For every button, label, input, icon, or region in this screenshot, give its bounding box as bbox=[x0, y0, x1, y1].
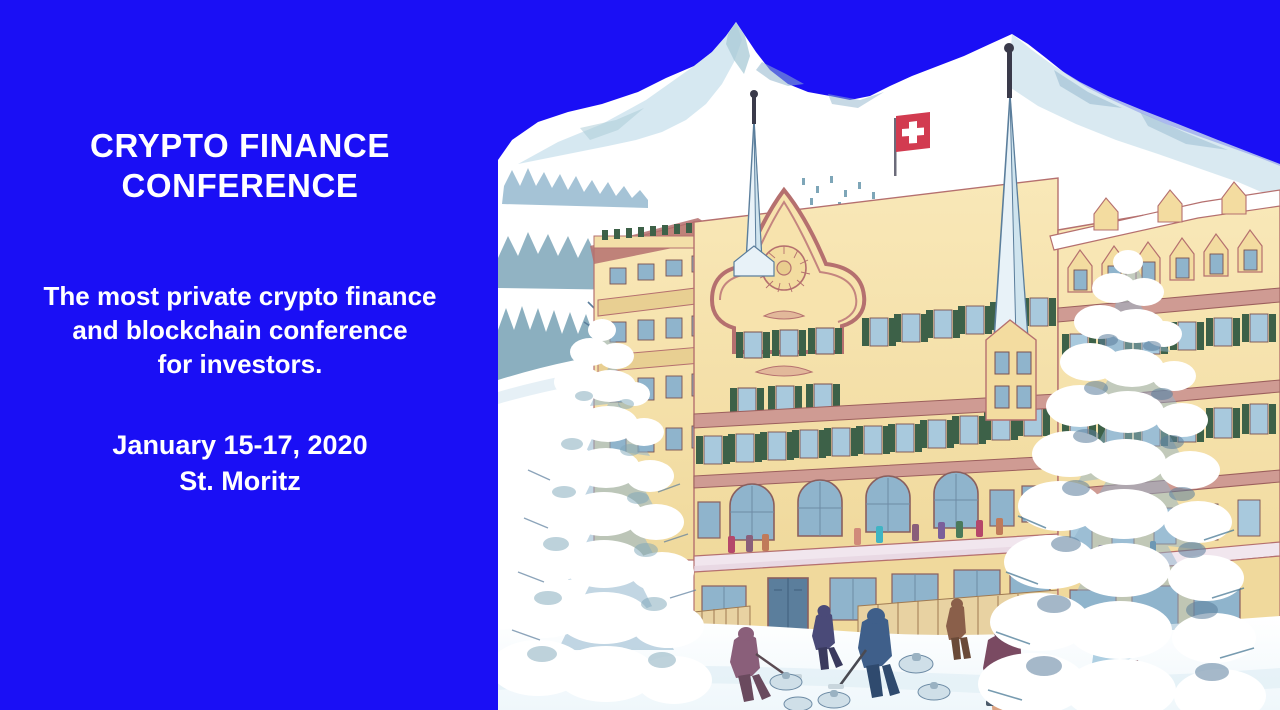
subtitle: The most private crypto finance and bloc… bbox=[0, 280, 480, 381]
event-details: January 15-17, 2020 St. Moritz bbox=[0, 427, 480, 499]
page-title: CRYPTO FINANCE CONFERENCE bbox=[0, 126, 480, 207]
event-date: January 15-17, 2020 bbox=[0, 427, 480, 463]
text-panel: CRYPTO FINANCE CONFERENCE The most priva… bbox=[0, 0, 500, 710]
winter-hotel-scene bbox=[498, 0, 1280, 710]
event-location: St. Moritz bbox=[0, 463, 480, 499]
poster-canvas: CRYPTO FINANCE CONFERENCE The most priva… bbox=[0, 0, 1280, 710]
title-line-2: CONFERENCE bbox=[0, 166, 480, 206]
subtitle-line-1: The most private crypto finance bbox=[0, 280, 480, 314]
subtitle-line-2: and blockchain conference bbox=[0, 314, 480, 348]
subtitle-line-3: for investors. bbox=[0, 348, 480, 382]
title-line-1: CRYPTO FINANCE bbox=[0, 126, 480, 166]
conference-illustration bbox=[498, 0, 1280, 710]
